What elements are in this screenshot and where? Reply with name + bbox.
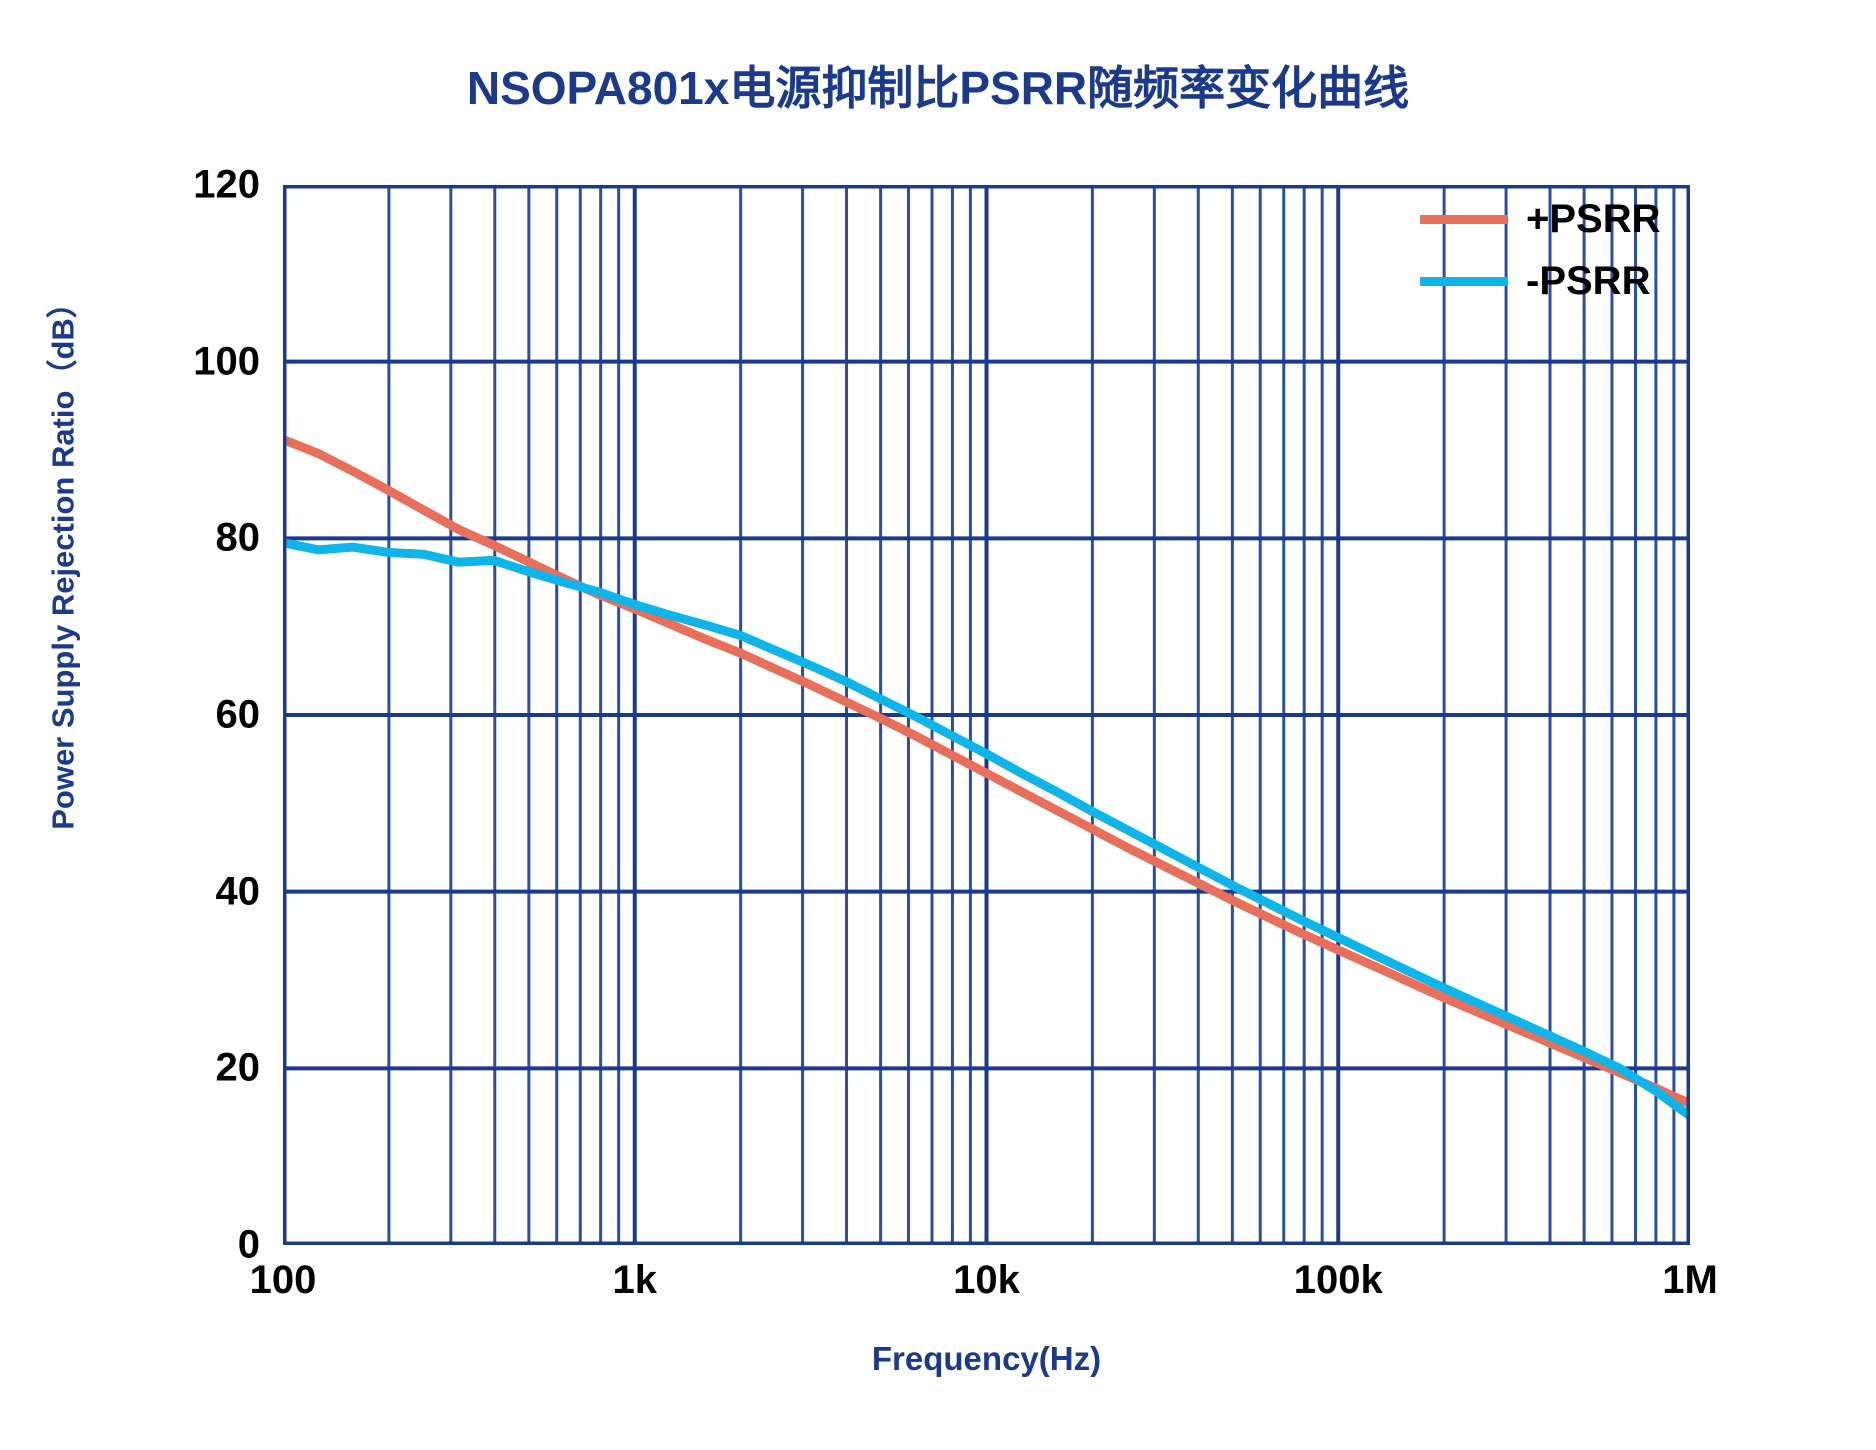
y-tick-label: 80: [140, 516, 260, 561]
chart-title: NSOPA801x电源抑制比PSRR随频率变化曲线: [0, 52, 1876, 118]
legend-label: +PSRR: [1526, 197, 1661, 242]
x-axis-tick-labels: 1001k10k100k1M: [283, 1258, 1690, 1318]
x-tick-label: 1M: [1590, 1258, 1790, 1303]
legend-item: +PSRR: [1420, 188, 1680, 250]
legend-color-swatch: [1420, 277, 1508, 286]
legend-item: -PSRR: [1420, 250, 1680, 312]
x-tick-label: 1k: [535, 1258, 735, 1303]
plot-svg: [283, 185, 1690, 1245]
y-tick-label: 120: [140, 163, 260, 208]
y-axis-title: Power Supply Rejection Ratio（dB）: [38, 29, 83, 1089]
y-tick-label: 20: [140, 1046, 260, 1091]
plot-area: [283, 185, 1690, 1245]
legend-color-swatch: [1420, 215, 1508, 224]
x-tick-label: 100k: [1238, 1258, 1438, 1303]
chart-legend: +PSRR-PSRR: [1420, 188, 1680, 312]
x-tick-label: 10k: [887, 1258, 1087, 1303]
legend-label: -PSRR: [1526, 259, 1650, 304]
y-tick-label: 100: [140, 339, 260, 384]
chart-page: NSOPA801x电源抑制比PSRR随频率变化曲线 02040608010012…: [0, 0, 1876, 1450]
y-axis-tick-labels: 020406080100120: [140, 185, 260, 1245]
y-tick-label: 40: [140, 869, 260, 914]
x-tick-label: 100: [183, 1258, 383, 1303]
x-axis-title: Frequency(Hz): [283, 1340, 1690, 1378]
y-tick-label: 60: [140, 693, 260, 738]
